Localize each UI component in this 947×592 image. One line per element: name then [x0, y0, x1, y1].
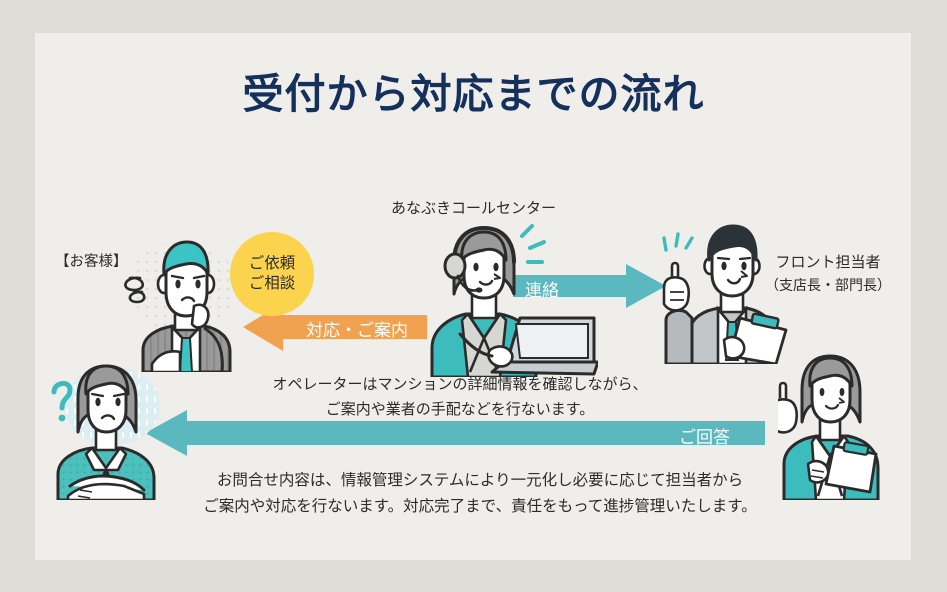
page-title: 受付から対応までの流れ: [0, 70, 947, 119]
bottom-description-line2: ご案内や対応を行ないます。対応完了まで、責任をもって進捗管理いたします。: [100, 494, 860, 520]
customer-illustration-top: [108, 232, 253, 372]
response-guide-arrow-label: 対応・ご案内: [306, 316, 408, 341]
staff-female-illustration: [778, 352, 906, 500]
front-staff-illustration: [648, 222, 788, 364]
reply-arrow-label: ご回答: [679, 423, 730, 448]
bottom-description-line1: お問合せ内容は、情報管理システムにより一元化し必要に応じて担当者から: [100, 468, 860, 494]
request-badge: ご依頼 ご相談: [230, 232, 314, 316]
operator-illustration: [408, 222, 598, 377]
customer-illustration-bottom: [40, 358, 175, 500]
reply-arrow: [145, 410, 765, 456]
request-badge-line2: ご相談: [249, 274, 296, 294]
call-center-label: あなぶきコールセンター: [0, 198, 947, 220]
bottom-description: お問合せ内容は、情報管理システムにより一元化し必要に応じて担当者から ご案内や対…: [100, 468, 860, 519]
request-badge-line1: ご依頼: [249, 254, 296, 274]
diagram-canvas: 受付から対応までの流れ あなぶきコールセンター 【お客様】 フロント担当者 （支…: [0, 0, 947, 592]
